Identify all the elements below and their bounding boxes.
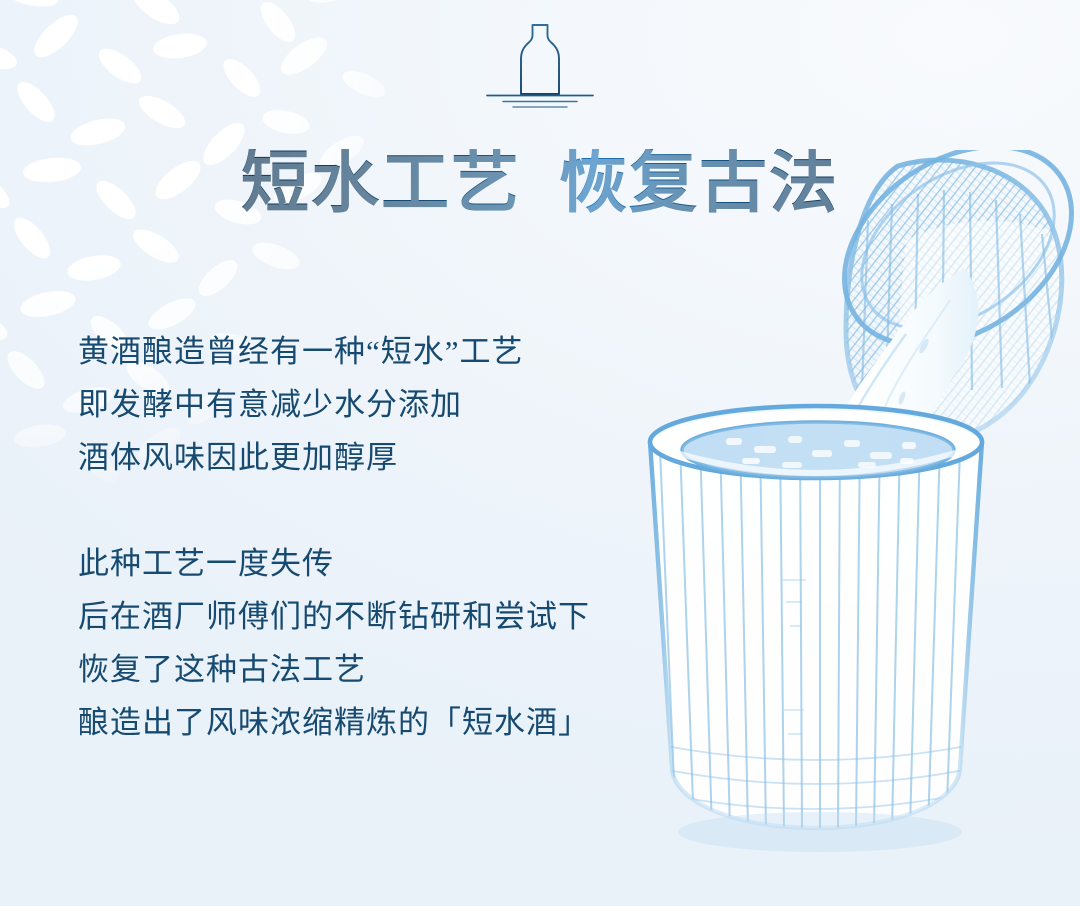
paragraph-1: 黄酒酿造曾经有一种“短水”工艺 即发酵中有意减少水分添加 酒体风味因此更加醇厚 (78, 325, 638, 484)
wine-bottle-outline-icon (479, 16, 601, 112)
copy-line: 即发酵中有意减少水分添加 (78, 378, 638, 431)
body-copy: 黄酒酿造曾经有一种“短水”工艺 即发酵中有意减少水分添加 酒体风味因此更加醇厚 … (78, 325, 638, 749)
copy-line: 此种工艺一度失传 (78, 537, 638, 590)
wooden-fermentation-vat (632, 406, 1000, 852)
paragraph-2: 此种工艺一度失传 后在酒厂师傅们的不断钻研和尝试下 恢复了这种古法工艺 酿造出了… (78, 537, 638, 749)
poster-canvas: 短水工艺 恢复古法 黄酒酿造曾经有一种“短水”工艺 即发酵中有意减少水分添加 酒… (0, 0, 1080, 906)
page-title-text: 短水工艺 恢复古法 (241, 149, 839, 217)
copy-line: 酿造出了风味浓缩精炼的「短水酒」 (78, 696, 638, 749)
bottle-emblem (0, 16, 1080, 112)
pouring-rice-wine-illustration (606, 150, 1080, 890)
pouring-liquid-stream (788, 268, 979, 604)
page-title: 短水工艺 恢复古法 (0, 137, 1080, 229)
copy-line: 恢复了这种古法工艺 (78, 643, 638, 696)
copy-line: 酒体风味因此更加醇厚 (78, 431, 638, 484)
copy-line: 黄酒酿造曾经有一种“短水”工艺 (78, 325, 638, 378)
copy-line: 后在酒厂师傅们的不断钻研和尝试下 (78, 590, 638, 643)
